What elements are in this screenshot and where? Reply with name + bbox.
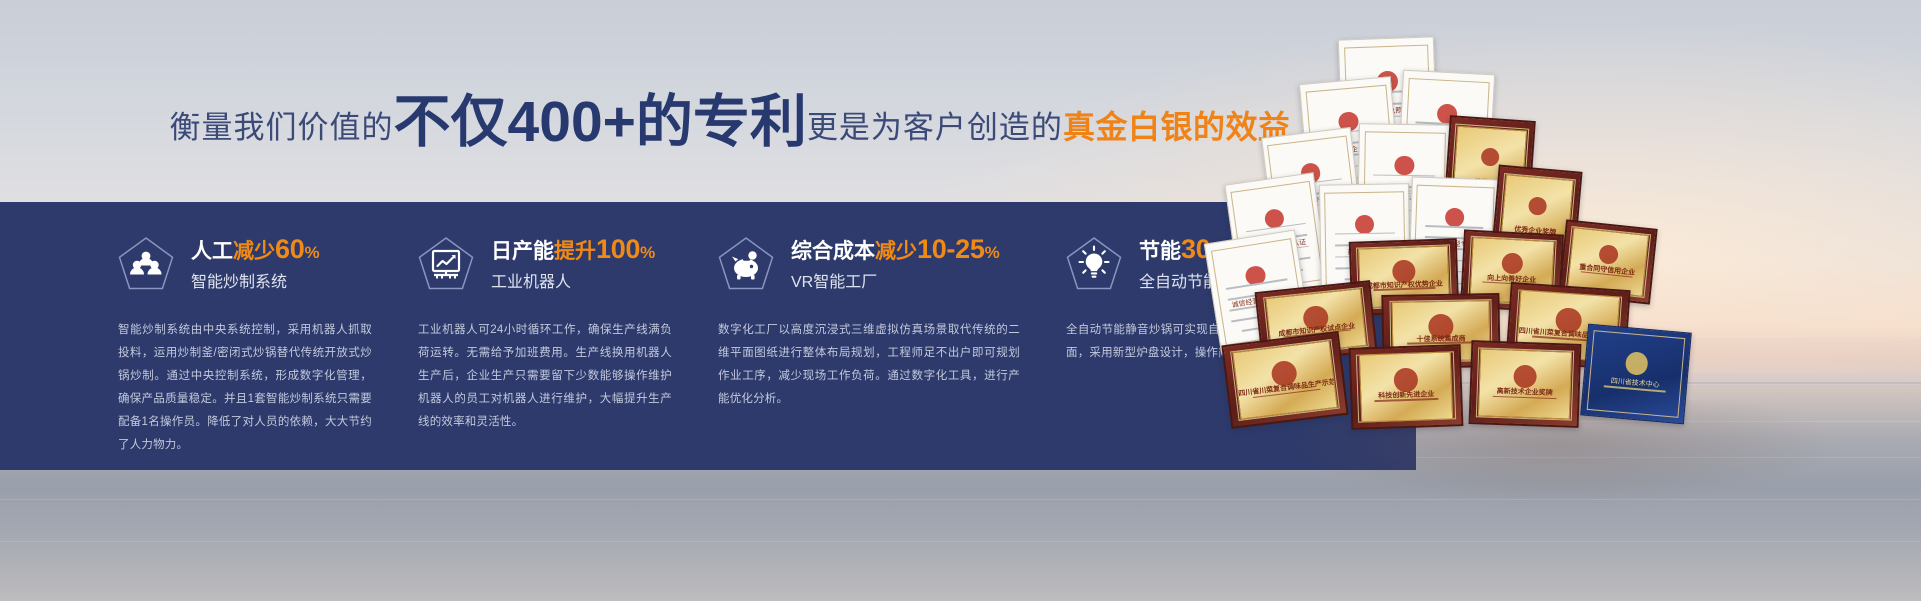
feature-title-unit: % <box>985 243 1000 262</box>
certificate-seal <box>1393 368 1418 393</box>
feature-item[interactable]: 日产能提升100% 工业机器人 工业机器人可24小时循环工作，确保生产线满负荷运… <box>418 230 718 470</box>
feature-title-number: 60 <box>275 234 304 264</box>
headline-mid: 更是为客户创造的 <box>807 102 1063 150</box>
headline-lead: 衡量我们价值的 <box>170 102 394 150</box>
feature-subtitle: VR智能工厂 <box>791 271 1000 295</box>
people-group-icon <box>118 235 174 293</box>
features-list: 人工减少60% 智能炒制系统 智能炒制系统由中央系统控制，采用机器人抓取投料，运… <box>0 202 1416 470</box>
certificate-paper: 四川省技术中心 <box>1580 324 1692 425</box>
feature-subtitle: 智能炒制系统 <box>191 271 320 295</box>
features-panel: 人工减少60% 智能炒制系统 智能炒制系统由中央系统控制，采用机器人抓取投料，运… <box>0 202 1416 470</box>
certificate-paper: 高新技术企业奖牌 <box>1469 340 1582 428</box>
certificate-collage: 营业执照 高新技术企业证书 科技型中小企业 证书 <box>1232 28 1892 528</box>
feature-title-number: 100 <box>596 234 640 264</box>
feature-title-accent: 减少 <box>233 240 275 263</box>
feature-body: 智能炒制系统由中央系统控制，采用机器人抓取投料，运用炒制釜/密闭式炒锅替代传统开… <box>118 319 372 457</box>
feature-title-accent: 提升 <box>554 240 596 263</box>
feature-body: 数字化工厂以高度沉浸式三维虚拟仿真场景取代传统的二维平面图纸进行整体布局规划，工… <box>718 319 1020 411</box>
feature-title: 综合成本减少10-25% <box>791 234 1000 266</box>
feature-title-prefix: 综合成本 <box>791 240 875 263</box>
lightbulb-icon <box>1066 235 1122 293</box>
certificate-paper: 科技创新先进企业 <box>1349 344 1464 430</box>
certificate-seal <box>1355 214 1375 234</box>
feature-text: 综合成本减少10-25% VR智能工厂 <box>791 233 1000 295</box>
piggy-bank-icon <box>718 235 774 293</box>
certificate-seal <box>1394 156 1414 176</box>
headline-emphasis: 不仅400+的专利 <box>394 95 807 150</box>
feature-title-accent: 减少 <box>875 240 917 263</box>
feature-header: 日产能提升100% 工业机器人 <box>418 230 672 298</box>
feature-text: 人工减少60% 智能炒制系统 <box>191 233 320 295</box>
certificate-item: 四川省川菜复合调味品生产示范企业 <box>1221 331 1348 429</box>
certificate-seal <box>1625 351 1649 375</box>
certificate-item: 高新技术企业奖牌 <box>1469 340 1582 428</box>
certificate-inner-plate <box>1589 325 1691 334</box>
certificate-item: 科技创新先进企业 <box>1349 344 1464 430</box>
feature-header: 综合成本减少10-25% VR智能工厂 <box>718 230 1020 298</box>
feature-subtitle: 工业机器人 <box>491 271 655 295</box>
feature-title: 日产能提升100% <box>491 234 655 266</box>
feature-title-unit: % <box>304 243 319 262</box>
certificate-seal <box>1528 196 1547 215</box>
certificate-seal <box>1445 208 1465 228</box>
feature-item[interactable]: 人工减少60% 智能炒制系统 智能炒制系统由中央系统控制，采用机器人抓取投料，运… <box>118 230 418 470</box>
feature-title-number: 10-25 <box>917 234 985 264</box>
certificate-item: 四川省技术中心 <box>1580 324 1692 425</box>
feature-text: 日产能提升100% 工业机器人 <box>491 233 655 295</box>
sea-streak <box>0 541 1921 542</box>
chart-board-icon <box>418 235 474 293</box>
feature-title-unit: % <box>640 243 655 262</box>
feature-item[interactable]: 综合成本减少10-25% VR智能工厂 数字化工厂以高度沉浸式三维虚拟仿真场景取… <box>718 230 1066 470</box>
feature-title: 人工减少60% <box>191 234 320 266</box>
feature-title-prefix: 节能 <box>1139 240 1181 263</box>
feature-header: 人工减少60% 智能炒制系统 <box>118 230 372 298</box>
feature-body: 工业机器人可24小时循环工作，确保生产线满负荷运转。无需给予加班费用。生产线换用… <box>418 319 672 434</box>
certificate-paper: 四川省川菜复合调味品生产示范企业 <box>1221 331 1348 429</box>
feature-title-prefix: 日产能 <box>491 240 554 263</box>
feature-title-prefix: 人工 <box>191 240 233 263</box>
